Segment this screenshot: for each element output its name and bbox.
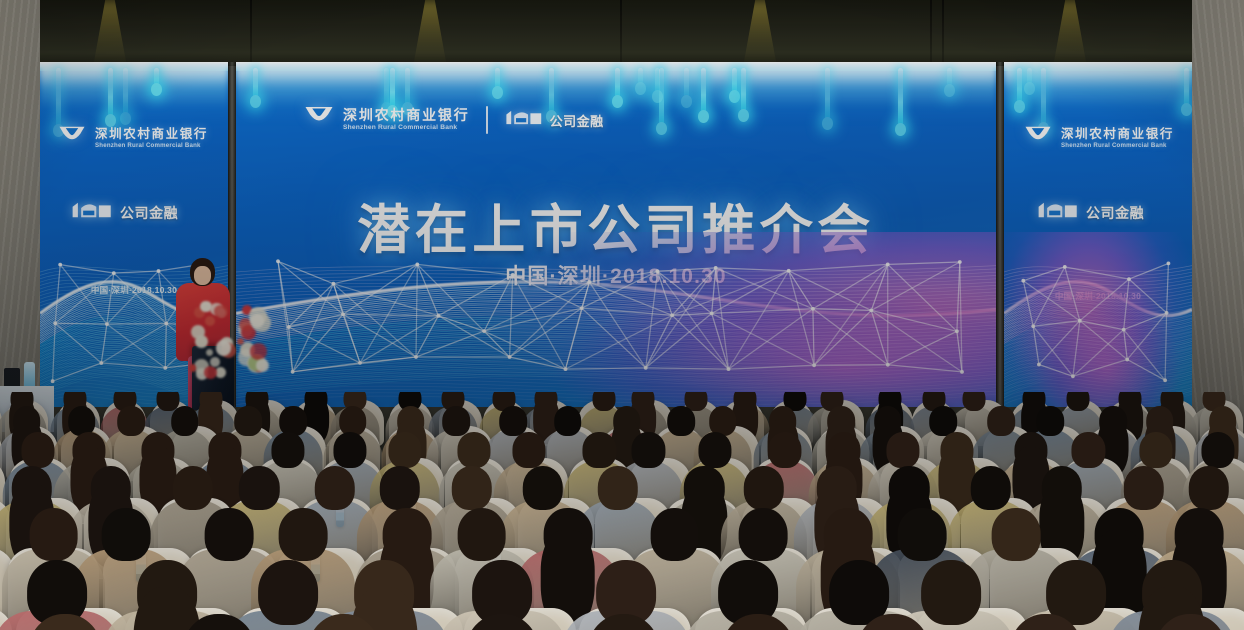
ceiling-seam	[930, 0, 932, 66]
droplet-streak-icon	[1184, 68, 1189, 110]
flower-blossom	[204, 366, 217, 379]
droplet-streak-icon	[732, 68, 737, 97]
audience-member-head	[239, 466, 279, 510]
ceiling-seam	[620, 0, 622, 66]
audience-member-head	[1154, 614, 1228, 630]
stage-screen-right-panel: 深圳农村商业银行 Shenzhen Rural Commercial Bank …	[1004, 62, 1192, 407]
flower-blossom	[214, 305, 228, 319]
droplet-streak-icon	[253, 68, 258, 102]
flower-blossom	[237, 338, 244, 345]
audience-member-head	[971, 466, 1011, 510]
audience-member-head	[457, 432, 490, 468]
audience-member-head	[992, 508, 1041, 561]
audience-member-head	[513, 432, 546, 468]
ceiling-seam	[942, 0, 944, 66]
droplet-streak-icon	[405, 68, 410, 109]
panel-seam-right	[996, 62, 1004, 407]
bank-name-en: Shenzhen Rural Commercial Bank	[1061, 143, 1174, 149]
flower-blossom	[256, 359, 269, 372]
ceiling-light-beam-icon	[80, 0, 140, 66]
corporate-finance-logo-icon	[504, 108, 546, 132]
droplet-streak-icon	[684, 68, 689, 102]
audience-member-head	[587, 614, 661, 630]
droplet-streak-icon	[1041, 68, 1046, 129]
droplet-streak-icon	[638, 68, 643, 89]
audience-member-head	[22, 432, 55, 468]
dark-ceiling-with-spotlights-icon	[40, 0, 1192, 66]
droplet-streak-icon	[947, 68, 952, 91]
audience-member-head	[102, 508, 151, 561]
flower-blossom	[210, 357, 220, 367]
audience-member-head	[1202, 432, 1235, 468]
polygon-network-mesh	[236, 232, 996, 407]
sub-brand-text: 公司金融	[120, 203, 178, 223]
audience-member-head	[279, 508, 328, 561]
conference-photo-scene: 深圳农村商业银行 Shenzhen Rural Commercial Bank …	[0, 0, 1244, 630]
droplet-streak-icon	[108, 68, 113, 121]
audience-member-head	[380, 466, 420, 510]
audience-member-head	[307, 614, 381, 630]
sub-brand-text: 公司金融	[1086, 203, 1144, 223]
shield-chevron-icon	[1024, 124, 1052, 154]
audience-member	[0, 614, 144, 630]
audience-member	[265, 614, 422, 630]
flower-blossom	[189, 364, 197, 372]
audience-member-head	[1009, 614, 1083, 630]
audience-member-head	[1139, 432, 1172, 468]
bank-name-cn: 深圳农村商业银行	[1061, 128, 1174, 141]
audience-member-head	[698, 432, 731, 468]
audience-member-head	[597, 466, 637, 510]
ceiling-light-beam-icon	[400, 0, 460, 66]
audience-member-head	[204, 508, 253, 561]
droplet-streak-icon	[154, 68, 159, 90]
bank-name-cn: 深圳农村商业银行	[343, 108, 470, 122]
droplet-streak-icon	[1027, 68, 1032, 89]
droplet-streak-icon	[825, 68, 830, 124]
audience-member-head	[583, 432, 616, 468]
audience-member-head	[739, 508, 788, 561]
flower-blossom	[195, 335, 208, 348]
flower-blossom	[250, 343, 267, 360]
shield-chevron-icon	[58, 124, 86, 154]
audience-member-head	[857, 614, 931, 630]
ceiling-seam	[250, 0, 252, 66]
droplet-streak-icon	[741, 68, 746, 116]
audience-member-head	[388, 432, 421, 468]
corporate-finance-logo-icon	[1036, 200, 1082, 225]
droplet-streak-icon	[655, 68, 660, 97]
droplet-streak-icon	[495, 68, 500, 93]
polygon-mesh-graphic	[1004, 232, 1192, 407]
audience-member-head	[886, 432, 919, 468]
audience-member	[545, 614, 702, 630]
audience-member-head	[744, 466, 784, 510]
sub-brand-text: 公司金融	[550, 111, 604, 130]
audience-member-head	[334, 432, 367, 468]
droplet-streak-icon	[1017, 68, 1022, 107]
audience-member-head	[1124, 466, 1164, 510]
flower-blossom	[205, 316, 215, 326]
audience-member-head	[897, 508, 946, 561]
screen-top-haze	[40, 66, 228, 124]
audience-member-head	[173, 466, 213, 510]
seated-audience-icon	[0, 392, 1244, 630]
bank-name-en: Shenzhen Rural Commercial Bank	[343, 125, 470, 132]
audience-member-head	[722, 614, 796, 630]
audience-member-head	[29, 614, 103, 630]
flower-blossom	[216, 340, 231, 355]
audience-member-head	[1072, 432, 1105, 468]
polygon-network-mesh	[1004, 232, 1192, 407]
stage-screen-main-panel: 深圳农村商业银行 Shenzhen Rural Commercial Bank …	[236, 62, 996, 407]
audience-member-head	[29, 508, 78, 561]
floral-arrangement-icon	[188, 300, 274, 386]
screen-top-haze	[1004, 66, 1192, 124]
droplet-streak-icon	[56, 68, 61, 131]
audience-member-head	[314, 466, 354, 510]
bank-name-en: Shenzhen Rural Commercial Bank	[95, 143, 208, 149]
droplet-streak-icon	[123, 68, 128, 119]
audience-member	[968, 614, 1125, 630]
ceiling-light-beam-icon	[730, 0, 790, 66]
audience-member	[815, 614, 972, 630]
presenter-face	[194, 266, 211, 285]
audience-member-head	[466, 614, 540, 630]
audience-member-head	[272, 432, 305, 468]
droplet-streak-icon	[384, 68, 389, 109]
audience-member-head	[650, 508, 699, 561]
vertical-divider-icon	[486, 106, 488, 134]
audience-member-head	[451, 466, 491, 510]
audience-member	[1112, 614, 1244, 630]
droplet-streak-icon	[898, 68, 903, 130]
audience-member-head	[522, 466, 562, 510]
droplet-streak-icon	[615, 68, 620, 102]
droplet-streak-icon	[701, 68, 706, 117]
audience-member-head	[632, 432, 665, 468]
ceiling-light-beam-icon	[1040, 0, 1100, 66]
audience-member-head	[182, 614, 256, 630]
flower-blossom	[200, 301, 211, 312]
flower-blossom	[206, 349, 213, 356]
audience-member-head	[768, 432, 801, 468]
audience-member-head	[457, 508, 506, 561]
corporate-finance-logo-icon	[70, 200, 116, 225]
polygon-mesh-graphic	[236, 232, 996, 407]
shield-chevron-icon	[304, 104, 334, 136]
bank-name-cn: 深圳农村商业银行	[95, 128, 208, 141]
audience-member-head	[1188, 466, 1228, 510]
audience-member	[680, 614, 837, 630]
